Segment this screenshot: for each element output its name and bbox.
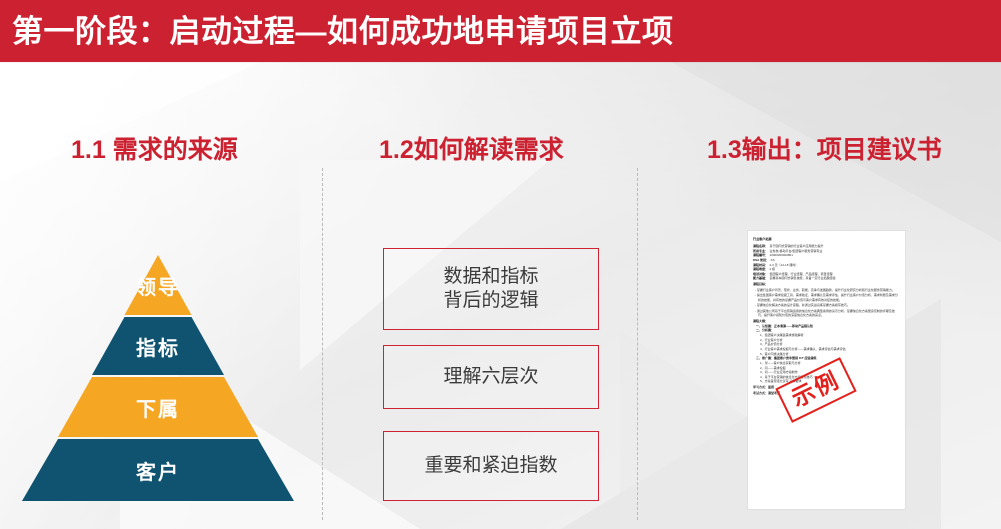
concept-box-six-levels[interactable]: 理解六层次 <box>383 345 599 409</box>
pyramid-level-customer[interactable]: 客户 <box>22 439 294 501</box>
pyramid-level-label: 下属 <box>136 393 180 422</box>
document-field-value: 掌握基本顾问式销售技能，具备一定行业拓展经验 <box>770 276 836 281</box>
section-heading-2: 1.2如何解读需求 <box>379 138 564 163</box>
pyramid-level-label: 客户 <box>136 456 180 485</box>
document-objective-item: - 掌握信息化解决方案的设计思路，并通过实战演练掌握方案模写技巧。 <box>753 303 899 308</box>
concept-box-line-1: 理解六层次 <box>443 365 538 389</box>
document-field-list: 课程名称：基于顾问式营销的行业客户应用能力提升所用专业：业务类-移动平台/集团客… <box>753 244 899 280</box>
concept-box-text: 数据和指标 背后的逻辑 <box>443 265 538 314</box>
concept-box-priority-index[interactable]: 重要和紧迫指数 <box>383 431 599 501</box>
section-heading-3: 1.3输出：项目建议书 <box>707 138 942 163</box>
concept-box-line-2: 背后的逻辑 <box>443 289 538 313</box>
section-heading-1: 1.1 需求的来源 <box>71 138 238 163</box>
pyramid-level-subordinate[interactable]: 下属 <box>22 377 294 437</box>
pyramid-level-label: 领导 <box>136 271 180 300</box>
background-facet <box>0 62 260 182</box>
document-field-row: 能力基础：掌握基本顾问式销售技能，具备一定行业拓展经验 <box>753 276 899 281</box>
document-objectives-list: - 掌握行业客户背景、现状、业务、职能、竞争与发展趋势，提升行业化研究分析和行业… <box>753 288 899 318</box>
document-objectives-label: 课程目标： <box>753 282 899 287</box>
concept-box-line-1: 重要和紧迫指数 <box>424 454 557 478</box>
document-objective-item: - 提出集团客户需求挖掘工具、需求验证、需求确认及需求评估，提升行业客户价值分析… <box>753 293 899 302</box>
pyramid-level-label: 指标 <box>136 332 180 361</box>
document-objective-item: - 掌握行业客户背景、现状、业务、职能、竞争与发展趋势，提升行业化研究分析和行业… <box>753 288 899 293</box>
pyramid-level-leader[interactable]: 领导 <box>22 255 294 315</box>
pyramid-level-metric[interactable]: 指标 <box>22 317 294 375</box>
slide-canvas: 第一阶段：启动过程—如何成功地申请项目立项 1.1 需求的来源 1.2如何解读需… <box>0 0 1001 529</box>
concept-box-text: 理解六层次 <box>443 365 538 389</box>
document-field-key: 能力基础： <box>753 276 768 281</box>
column-divider-right <box>637 168 638 520</box>
concept-box-text: 重要和紧迫指数 <box>424 454 557 478</box>
document-title: 行业客户拓展 <box>753 236 899 241</box>
slide-title-banner: 第一阶段：启动过程—如何成功地申请项目立项 <box>0 0 1001 62</box>
requirement-source-pyramid: 领导 指标 下属 <box>22 255 294 501</box>
project-proposal-document-preview[interactable]: 行业客户拓展 课程名称：基于顾问式营销的行业客户应用能力提升所用专业：业务类-移… <box>748 231 905 509</box>
concept-box-data-logic[interactable]: 数据和指标 背后的逻辑 <box>383 248 599 330</box>
document-objective-item: - 通过其他公司基于平台营销运用的信息化方案典型案例的演示分析，掌握信息化方案量… <box>753 309 899 318</box>
column-divider-left <box>322 168 323 520</box>
page-title: 第一阶段：启动过程—如何成功地申请项目立项 <box>0 16 674 47</box>
concept-box-line-1: 数据和指标 <box>443 265 538 289</box>
